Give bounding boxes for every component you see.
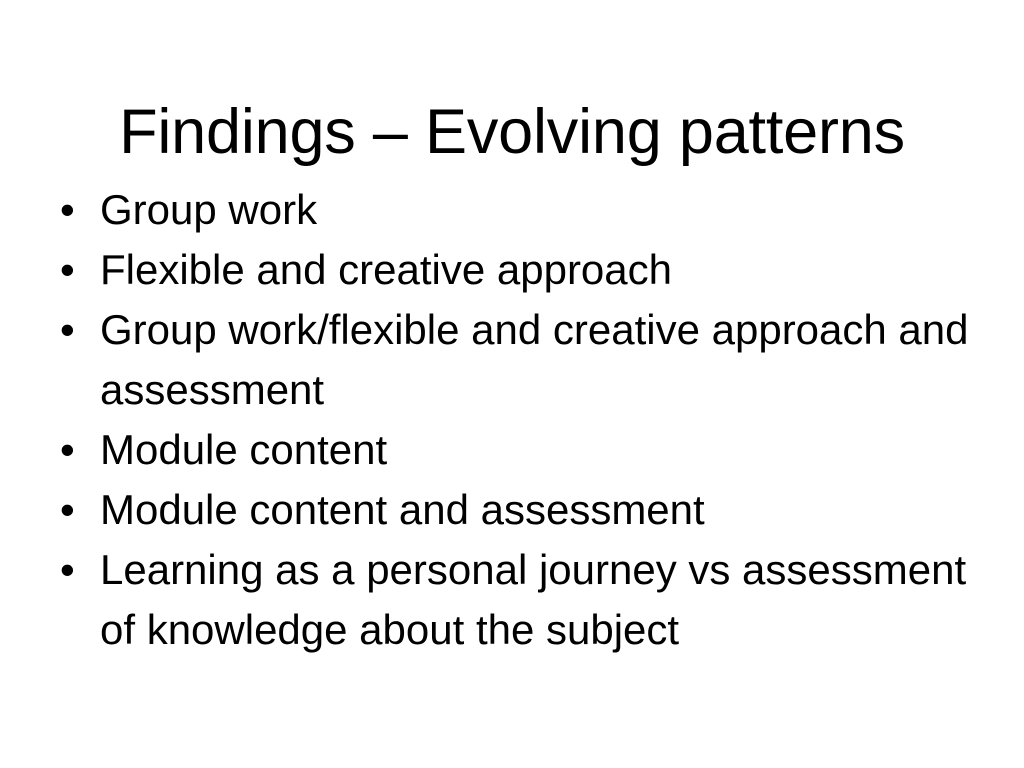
- bullet-point-icon: •: [60, 180, 100, 240]
- bullet-point-icon: •: [60, 540, 100, 600]
- bullet-list: • Group work • Flexible and creative app…: [60, 180, 970, 660]
- list-item-text: Flexible and creative approach: [100, 240, 970, 300]
- presentation-slide: Findings – Evolving patterns • Group wor…: [0, 0, 1024, 768]
- list-item: • Module content: [60, 420, 970, 480]
- list-item: • Learning as a personal journey vs asse…: [60, 540, 970, 660]
- list-item-text: Group work: [100, 180, 970, 240]
- list-item: • Group work: [60, 180, 970, 240]
- list-item: • Flexible and creative approach: [60, 240, 970, 300]
- list-item-text: Learning as a personal journey vs assess…: [100, 540, 970, 660]
- list-item-text: Group work/flexible and creative approac…: [100, 300, 970, 420]
- bullet-point-icon: •: [60, 300, 100, 360]
- list-item: • Group work/flexible and creative appro…: [60, 300, 970, 420]
- slide-title: Findings – Evolving patterns: [0, 98, 1024, 167]
- bullet-point-icon: •: [60, 480, 100, 540]
- list-item-text: Module content: [100, 420, 970, 480]
- bullet-point-icon: •: [60, 420, 100, 480]
- list-item: • Module content and assessment: [60, 480, 970, 540]
- list-item-text: Module content and assessment: [100, 480, 970, 540]
- bullet-point-icon: •: [60, 240, 100, 300]
